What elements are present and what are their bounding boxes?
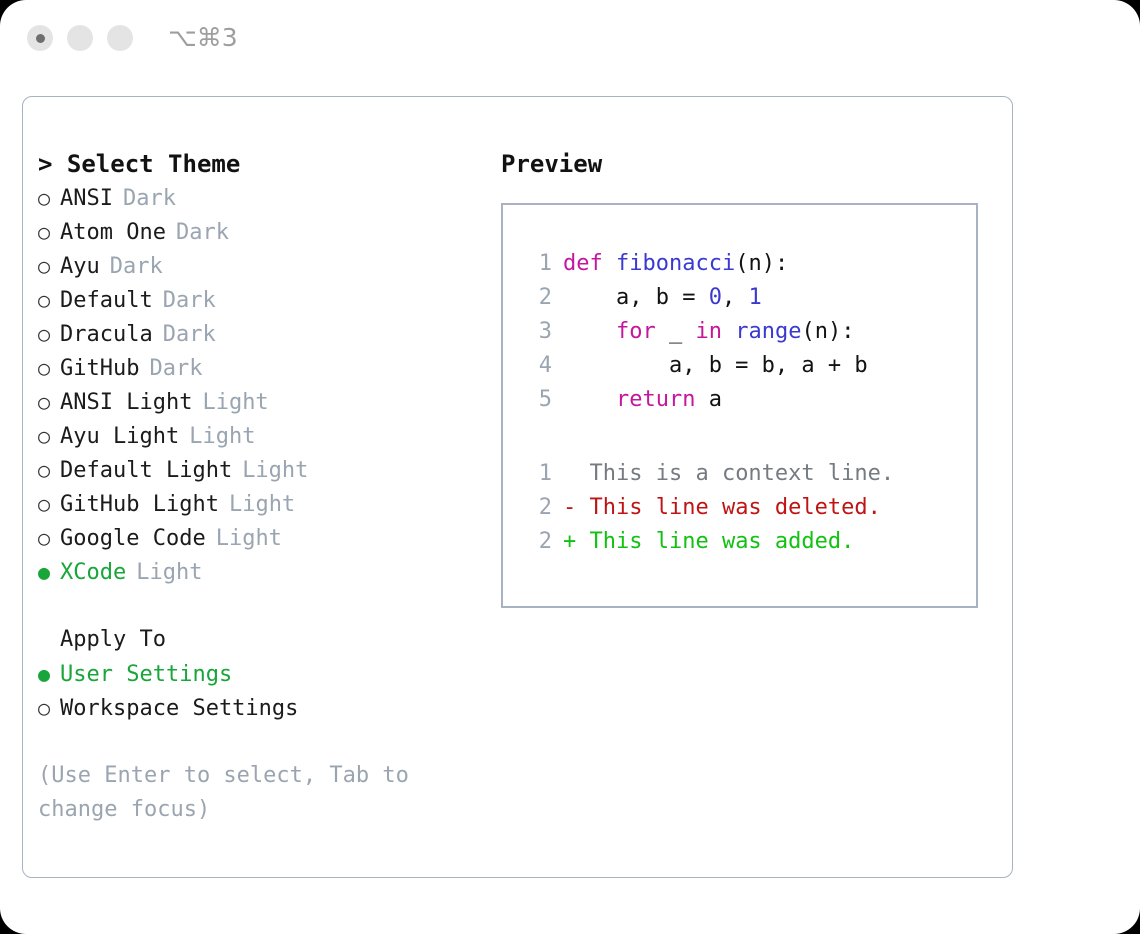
radio-unselected-icon: ○	[38, 351, 60, 385]
radio-unselected-icon: ○	[38, 317, 60, 351]
app-window: ⌥⌘3 > Select Theme ○ANSIDark○Atom OneDar…	[0, 0, 1140, 934]
code-sample: 1def fibonacci(n):2 a, b = 0, 13 for _ i…	[520, 247, 868, 417]
theme-name: GitHub Light	[60, 488, 219, 522]
radio-unselected-icon: ○	[38, 249, 60, 283]
code-token-kw: for	[616, 319, 656, 344]
theme-variant: Light	[229, 488, 295, 522]
theme-list-item[interactable]: ○DefaultDark	[38, 283, 478, 317]
apply-to-list: ●User Settings○Workspace Settings	[38, 657, 478, 725]
diff-sample: 1 This is a context line.2- This line wa…	[520, 457, 894, 559]
theme-variant: Light	[202, 386, 268, 420]
theme-variant: Dark	[149, 352, 202, 386]
radio-unselected-icon: ○	[38, 453, 60, 487]
code-line: 2 a, b = 0, 1	[520, 281, 868, 315]
radio-selected-icon: ●	[38, 657, 60, 691]
theme-name: Ayu	[60, 250, 100, 284]
theme-variant: Dark	[123, 182, 176, 216]
line-number: 1	[520, 457, 552, 491]
diff-line: 2- This line was deleted.	[520, 491, 894, 525]
code-line: 4 a, b = b, a + b	[520, 349, 868, 383]
code-token-plain	[722, 319, 735, 344]
theme-name: GitHub	[60, 352, 139, 386]
theme-name: XCode	[60, 556, 126, 590]
diff-text: This is a context line.	[576, 457, 894, 491]
theme-variant: Light	[242, 454, 308, 488]
code-token-kw: in	[695, 319, 722, 344]
radio-unselected-icon: ○	[38, 419, 60, 453]
line-number: 1	[520, 247, 552, 281]
theme-list-item[interactable]: ○GitHub LightLight	[38, 487, 478, 521]
radio-unselected-icon: ○	[38, 283, 60, 317]
preview-column: Preview 1def fibonacci(n):2 a, b = 0, 13…	[501, 147, 1001, 608]
theme-list: ○ANSIDark○Atom OneDark○AyuDark○DefaultDa…	[38, 181, 478, 589]
line-number: 2	[520, 491, 552, 525]
code-token-plain: a, b = b, a + b	[563, 353, 868, 378]
theme-list-item[interactable]: ○Default LightLight	[38, 453, 478, 487]
window-controls	[27, 25, 133, 51]
theme-list-item[interactable]: ○Google CodeLight	[38, 521, 478, 555]
code-token-kw: def	[563, 251, 616, 276]
radio-selected-icon: ●	[38, 555, 60, 589]
diff-marker: -	[563, 491, 576, 525]
radio-unselected-icon: ○	[38, 181, 60, 215]
apply-to-heading: Apply To	[38, 623, 478, 657]
radio-unselected-icon: ○	[38, 487, 60, 521]
code-line: 1def fibonacci(n):	[520, 247, 868, 281]
line-number: 4	[520, 349, 552, 383]
theme-list-item[interactable]: ○Ayu LightLight	[38, 419, 478, 453]
diff-text: This line was added.	[576, 525, 854, 559]
theme-list-item[interactable]: ○ANSI LightLight	[38, 385, 478, 419]
code-token-fn: fibonacci	[616, 251, 735, 276]
radio-unselected-icon: ○	[38, 691, 60, 725]
theme-list-item[interactable]: ○DraculaDark	[38, 317, 478, 351]
theme-variant: Dark	[163, 318, 216, 352]
code-token-num: 0	[709, 285, 722, 310]
code-token-plain: ,	[722, 285, 749, 310]
theme-variant: Light	[189, 420, 255, 454]
code-token-fn: range	[735, 319, 801, 344]
code-token-num: 1	[748, 285, 761, 310]
theme-selection-column: > Select Theme ○ANSIDark○Atom OneDark○Ay…	[38, 147, 478, 827]
code-text: def fibonacci(n):	[563, 247, 788, 281]
theme-list-item[interactable]: ●XCodeLight	[38, 555, 478, 589]
code-token-plain: a, b =	[563, 285, 709, 310]
preview-panel: 1def fibonacci(n):2 a, b = 0, 13 for _ i…	[501, 203, 978, 608]
theme-picker-card: > Select Theme ○ANSIDark○Atom OneDark○Ay…	[22, 96, 1013, 878]
title-bar: ⌥⌘3	[0, 0, 1140, 78]
code-token-plain: a	[695, 387, 722, 412]
code-text: a, b = 0, 1	[563, 281, 762, 315]
radio-unselected-icon: ○	[38, 385, 60, 419]
theme-name: Default	[60, 284, 153, 318]
code-token-punct: (n):	[735, 251, 788, 276]
apply-to-item[interactable]: ○Workspace Settings	[38, 691, 478, 725]
code-line: 5 return a	[520, 383, 868, 417]
theme-variant: Dark	[110, 250, 163, 284]
code-token-plain: _	[656, 319, 696, 344]
keyboard-hint-text: (Use Enter to select, Tab to change focu…	[38, 759, 458, 827]
diff-line: 2+ This line was added.	[520, 525, 894, 559]
code-token-punct: (n):	[801, 319, 854, 344]
window-dot-3[interactable]	[107, 25, 133, 51]
diff-line: 1 This is a context line.	[520, 457, 894, 491]
theme-name: ANSI	[60, 182, 113, 216]
theme-variant: Dark	[163, 284, 216, 318]
line-number: 5	[520, 383, 552, 417]
radio-unselected-icon: ○	[38, 215, 60, 249]
diff-marker: +	[563, 525, 576, 559]
keyboard-shortcut-label: ⌥⌘3	[168, 23, 238, 52]
apply-to-item[interactable]: ●User Settings	[38, 657, 478, 691]
code-line: 3 for _ in range(n):	[520, 315, 868, 349]
diff-text: This line was deleted.	[576, 491, 881, 525]
theme-variant: Light	[216, 522, 282, 556]
apply-to-label: Workspace Settings	[60, 692, 298, 726]
theme-list-item[interactable]: ○Atom OneDark	[38, 215, 478, 249]
window-dot-2[interactable]	[67, 25, 93, 51]
code-text: for _ in range(n):	[563, 315, 854, 349]
line-number: 3	[520, 315, 552, 349]
theme-list-item[interactable]: ○GitHubDark	[38, 351, 478, 385]
apply-to-label: User Settings	[60, 658, 232, 692]
code-text: return a	[563, 383, 722, 417]
theme-variant: Dark	[176, 216, 229, 250]
radio-unselected-icon: ○	[38, 521, 60, 555]
code-token-plain	[563, 319, 616, 344]
theme-variant: Light	[136, 556, 202, 590]
theme-name: Dracula	[60, 318, 153, 352]
theme-name: Default Light	[60, 454, 232, 488]
theme-list-item[interactable]: ○AyuDark	[38, 249, 478, 283]
theme-list-item[interactable]: ○ANSIDark	[38, 181, 478, 215]
theme-name: Ayu Light	[60, 420, 179, 454]
diff-marker	[563, 457, 576, 491]
record-indicator-icon	[36, 34, 45, 43]
code-token-plain	[563, 387, 616, 412]
theme-name: Atom One	[60, 216, 166, 250]
line-number: 2	[520, 525, 552, 559]
theme-name: ANSI Light	[60, 386, 192, 420]
line-number: 2	[520, 281, 552, 315]
code-text: a, b = b, a + b	[563, 349, 868, 383]
theme-name: Google Code	[60, 522, 206, 556]
code-token-kw: return	[616, 387, 695, 412]
select-theme-heading: > Select Theme	[38, 147, 478, 181]
window-dot-active[interactable]	[27, 25, 53, 51]
preview-heading: Preview	[501, 147, 1001, 181]
